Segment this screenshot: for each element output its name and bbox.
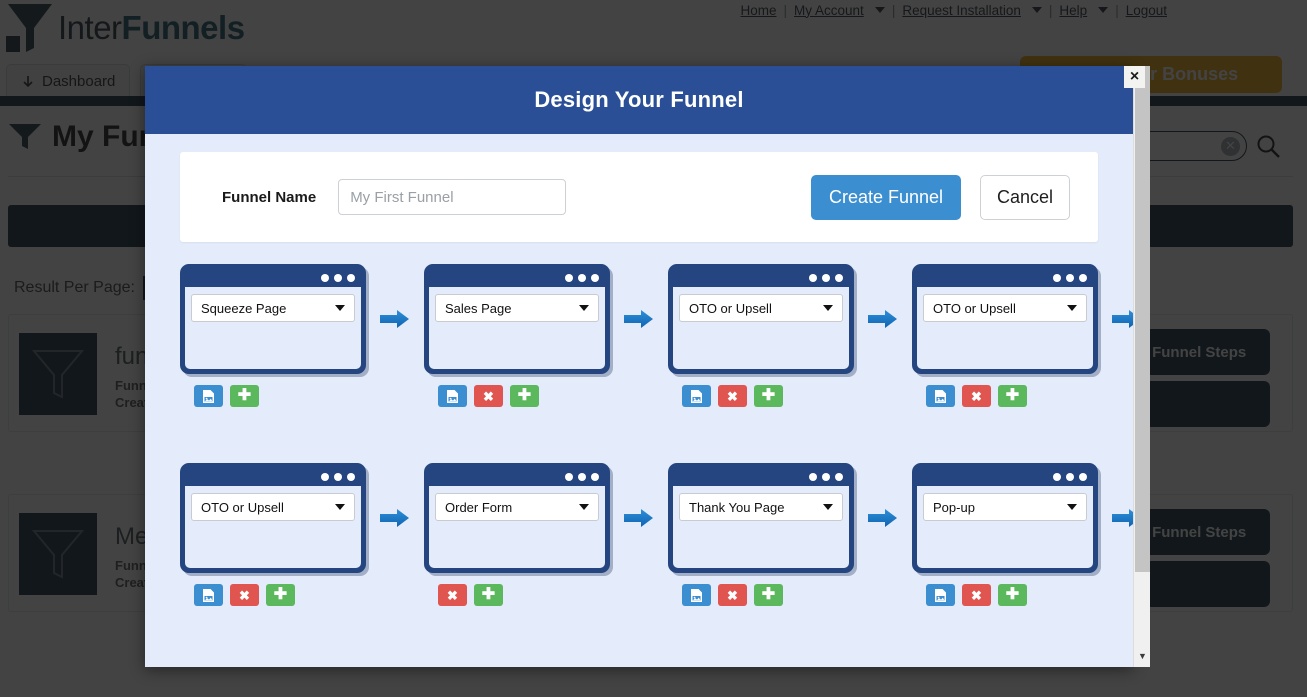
step-delete-button[interactable]: ✖ [962,584,991,606]
image-page-icon [933,588,948,603]
step-delete-button[interactable]: ✖ [438,584,467,606]
image-page-icon [933,389,948,404]
step-type-value: Squeeze Page [201,301,335,316]
step-type-value: Sales Page [445,301,579,316]
step-delete-button[interactable]: ✖ [718,584,747,606]
flow-arrow-icon [380,507,410,529]
step-preview-button[interactable] [682,584,711,606]
step-window: OTO or Upsell [668,264,854,374]
close-icon[interactable]: × [1124,66,1145,88]
window-dot-icon [591,473,599,481]
step-actions: ✖✚ [180,584,366,606]
funnel-steps-row: OTO or Upsell✖✚Order Form✖✚Thank You Pag… [180,463,1098,606]
flow-arrow-icon [1112,308,1133,330]
window-dot-icon [578,274,586,282]
window-dot-icon [321,473,329,481]
step-type-value: Order Form [445,500,579,515]
chevron-down-icon [1067,504,1077,510]
window-content: OTO or Upsell [673,287,849,369]
step-add-button[interactable]: ✚ [998,584,1027,606]
step-type-value: OTO or Upsell [201,500,335,515]
step-type-select[interactable]: Order Form [435,493,599,521]
flow-arrow-icon [868,308,898,330]
step-type-select[interactable]: OTO or Upsell [191,493,355,521]
step-preview-button[interactable] [438,385,467,407]
chevron-down-icon [335,305,345,311]
funnel-step-card: OTO or Upsell✖✚ [668,264,854,407]
step-window: OTO or Upsell [912,264,1098,374]
image-page-icon [445,389,460,404]
step-type-select[interactable]: OTO or Upsell [679,294,843,322]
window-titlebar [429,468,605,486]
step-type-select[interactable]: Pop-up [923,493,1087,521]
step-add-button[interactable]: ✚ [998,385,1027,407]
funnel-step-card: OTO or Upsell✖✚ [912,264,1098,407]
window-content: Squeeze Page [185,287,361,369]
window-titlebar [917,468,1093,486]
step-type-select[interactable]: Squeeze Page [191,294,355,322]
step-actions: ✚ [180,385,366,407]
window-dot-icon [1066,274,1074,282]
step-actions: ✖✚ [424,584,610,606]
step-connector [610,463,668,573]
step-preview-button[interactable] [926,385,955,407]
window-dot-icon [1053,473,1061,481]
modal-header: Design Your Funnel [145,66,1133,134]
step-type-value: Thank You Page [689,500,823,515]
step-window: Thank You Page [668,463,854,573]
chevron-down-icon [1067,305,1077,311]
funnel-step-card: OTO or Upsell✖✚ [180,463,366,606]
step-connector [854,463,912,573]
window-titlebar [185,269,361,287]
flow-arrow-icon [624,308,654,330]
funnel-step-card: Squeeze Page✚ [180,264,366,407]
window-dot-icon [1053,274,1061,282]
step-add-button[interactable]: ✚ [754,385,783,407]
window-content: Sales Page [429,287,605,369]
window-dot-icon [578,473,586,481]
step-actions: ✖✚ [424,385,610,407]
window-dot-icon [822,473,830,481]
window-dot-icon [347,274,355,282]
funnel-step-card: Thank You Page✖✚ [668,463,854,606]
step-delete-button[interactable]: ✖ [962,385,991,407]
window-content: OTO or Upsell [917,287,1093,369]
chevron-down-icon [579,305,589,311]
step-connector [366,264,424,374]
window-content: Pop-up [917,486,1093,568]
step-delete-button[interactable]: ✖ [230,584,259,606]
flow-arrow-icon [380,308,410,330]
funnel-name-input[interactable] [338,179,566,215]
window-dot-icon [1066,473,1074,481]
image-page-icon [689,588,704,603]
step-type-select[interactable]: Thank You Page [679,493,843,521]
flow-arrow-icon [1112,507,1133,529]
step-add-button[interactable]: ✚ [266,584,295,606]
step-preview-button[interactable] [926,584,955,606]
step-type-value: OTO or Upsell [689,301,823,316]
funnel-steps-grid: Squeeze Page✚Sales Page✖✚OTO or Upsell✖✚… [180,264,1098,606]
window-titlebar [429,269,605,287]
modal-scrollbar[interactable]: ▼ [1133,66,1150,667]
step-window: OTO or Upsell [180,463,366,573]
step-preview-button[interactable] [194,385,223,407]
window-dot-icon [334,473,342,481]
step-preview-button[interactable] [682,385,711,407]
funnel-step-card: Pop-up✖✚ [912,463,1098,606]
window-content: OTO or Upsell [185,486,361,568]
chevron-down-icon [823,504,833,510]
window-content: Order Form [429,486,605,568]
window-dot-icon [809,473,817,481]
window-dot-icon [822,274,830,282]
window-dot-icon [1079,473,1087,481]
step-actions: ✖✚ [668,584,854,606]
image-page-icon [201,389,216,404]
window-dot-icon [334,274,342,282]
window-dot-icon [835,274,843,282]
step-connector [366,463,424,573]
scrollbar-thumb[interactable] [1135,66,1150,572]
step-actions: ✖✚ [912,385,1098,407]
window-dot-icon [835,473,843,481]
window-dot-icon [591,274,599,282]
scroll-down-arrow-icon[interactable]: ▼ [1134,651,1151,661]
create-funnel-button[interactable]: Create Funnel [811,175,961,220]
step-add-button[interactable]: ✚ [510,385,539,407]
step-delete-button[interactable]: ✖ [718,385,747,407]
modal-title: Design Your Funnel [534,87,743,113]
flow-arrow-icon [624,507,654,529]
step-add-button[interactable]: ✚ [754,584,783,606]
window-titlebar [673,468,849,486]
window-dot-icon [565,274,573,282]
cancel-button[interactable]: Cancel [980,175,1070,220]
step-window: Sales Page [424,264,610,374]
image-page-icon [201,588,216,603]
step-connector [1098,463,1133,573]
chevron-down-icon [335,504,345,510]
step-window: Order Form [424,463,610,573]
window-dot-icon [1079,274,1087,282]
modal-body: Funnel Name Create Funnel Cancel Squeeze… [145,134,1133,606]
window-titlebar [185,468,361,486]
window-dot-icon [321,274,329,282]
funnel-name-panel: Funnel Name Create Funnel Cancel [180,152,1098,242]
window-content: Thank You Page [673,486,849,568]
step-connector [1098,264,1133,374]
step-connector [610,264,668,374]
window-titlebar [917,269,1093,287]
step-add-button[interactable]: ✚ [474,584,503,606]
funnel-name-label: Funnel Name [222,189,316,206]
window-dot-icon [347,473,355,481]
design-funnel-modal: Design Your Funnel Funnel Name Create Fu… [145,66,1133,667]
funnel-step-card: Order Form✖✚ [424,463,610,606]
step-window: Pop-up [912,463,1098,573]
chevron-down-icon [823,305,833,311]
funnel-step-card: Sales Page✖✚ [424,264,610,407]
step-actions: ✖✚ [912,584,1098,606]
step-type-value: Pop-up [933,500,1067,515]
step-actions: ✖✚ [668,385,854,407]
image-page-icon [689,389,704,404]
step-type-select[interactable]: OTO or Upsell [923,294,1087,322]
funnel-steps-row: Squeeze Page✚Sales Page✖✚OTO or Upsell✖✚… [180,264,1098,407]
step-window: Squeeze Page [180,264,366,374]
window-dot-icon [809,274,817,282]
flow-arrow-icon [868,507,898,529]
step-type-value: OTO or Upsell [933,301,1067,316]
window-dot-icon [565,473,573,481]
chevron-down-icon [579,504,589,510]
step-preview-button[interactable] [194,584,223,606]
step-delete-button[interactable]: ✖ [474,385,503,407]
step-connector [854,264,912,374]
step-add-button[interactable]: ✚ [230,385,259,407]
step-type-select[interactable]: Sales Page [435,294,599,322]
window-titlebar [673,269,849,287]
